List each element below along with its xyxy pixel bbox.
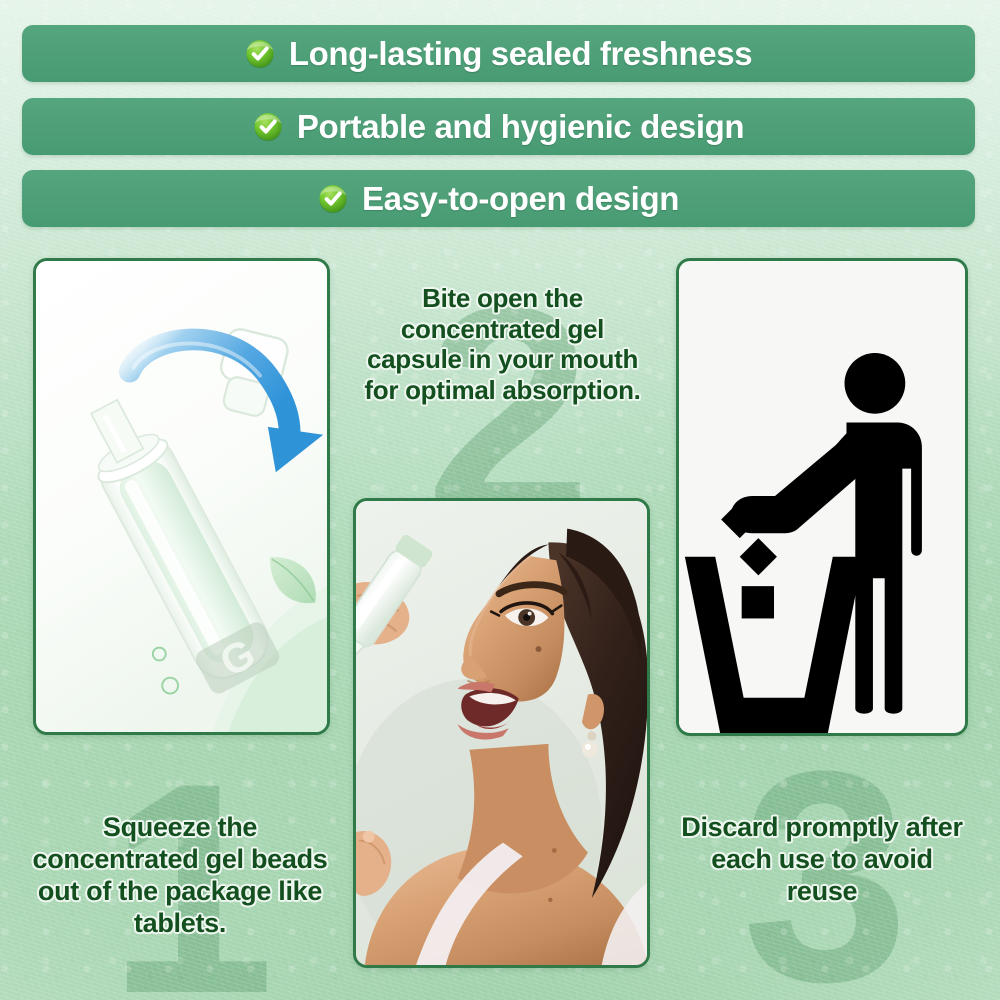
gel-ampoule-twist-open-illustration: G — [36, 261, 327, 732]
feature-banner-1: Long-lasting sealed freshness — [22, 25, 975, 82]
feature-banner-label-2: Portable and hygienic design — [297, 108, 744, 146]
feature-banner-2: Portable and hygienic design — [22, 98, 975, 155]
feature-banner-label-3: Easy-to-open design — [362, 180, 679, 218]
woman-taking-gel-capsule-photo — [356, 501, 647, 965]
feature-banner-label-1: Long-lasting sealed freshness — [289, 35, 752, 73]
check-circle-icon — [318, 184, 348, 214]
infographic-canvas: 1 2 3 Long-lasting sealed freshness — [0, 0, 1000, 1000]
check-circle-icon — [245, 39, 275, 69]
step-3-caption: Discard promptly after each use to avoid… — [676, 812, 968, 908]
step-1-image-panel: G — [33, 258, 330, 735]
step-3-image-panel — [676, 258, 968, 736]
check-circle-icon — [253, 112, 283, 142]
step-2-image-panel — [353, 498, 650, 968]
step-2-caption: Bite open the concentrated gel capsule i… — [355, 283, 650, 406]
dispose-in-trash-pictogram — [679, 261, 965, 733]
feature-banner-3: Easy-to-open design — [22, 170, 975, 227]
step-1-caption: Squeeze the concentrated gel beads out o… — [20, 812, 340, 939]
